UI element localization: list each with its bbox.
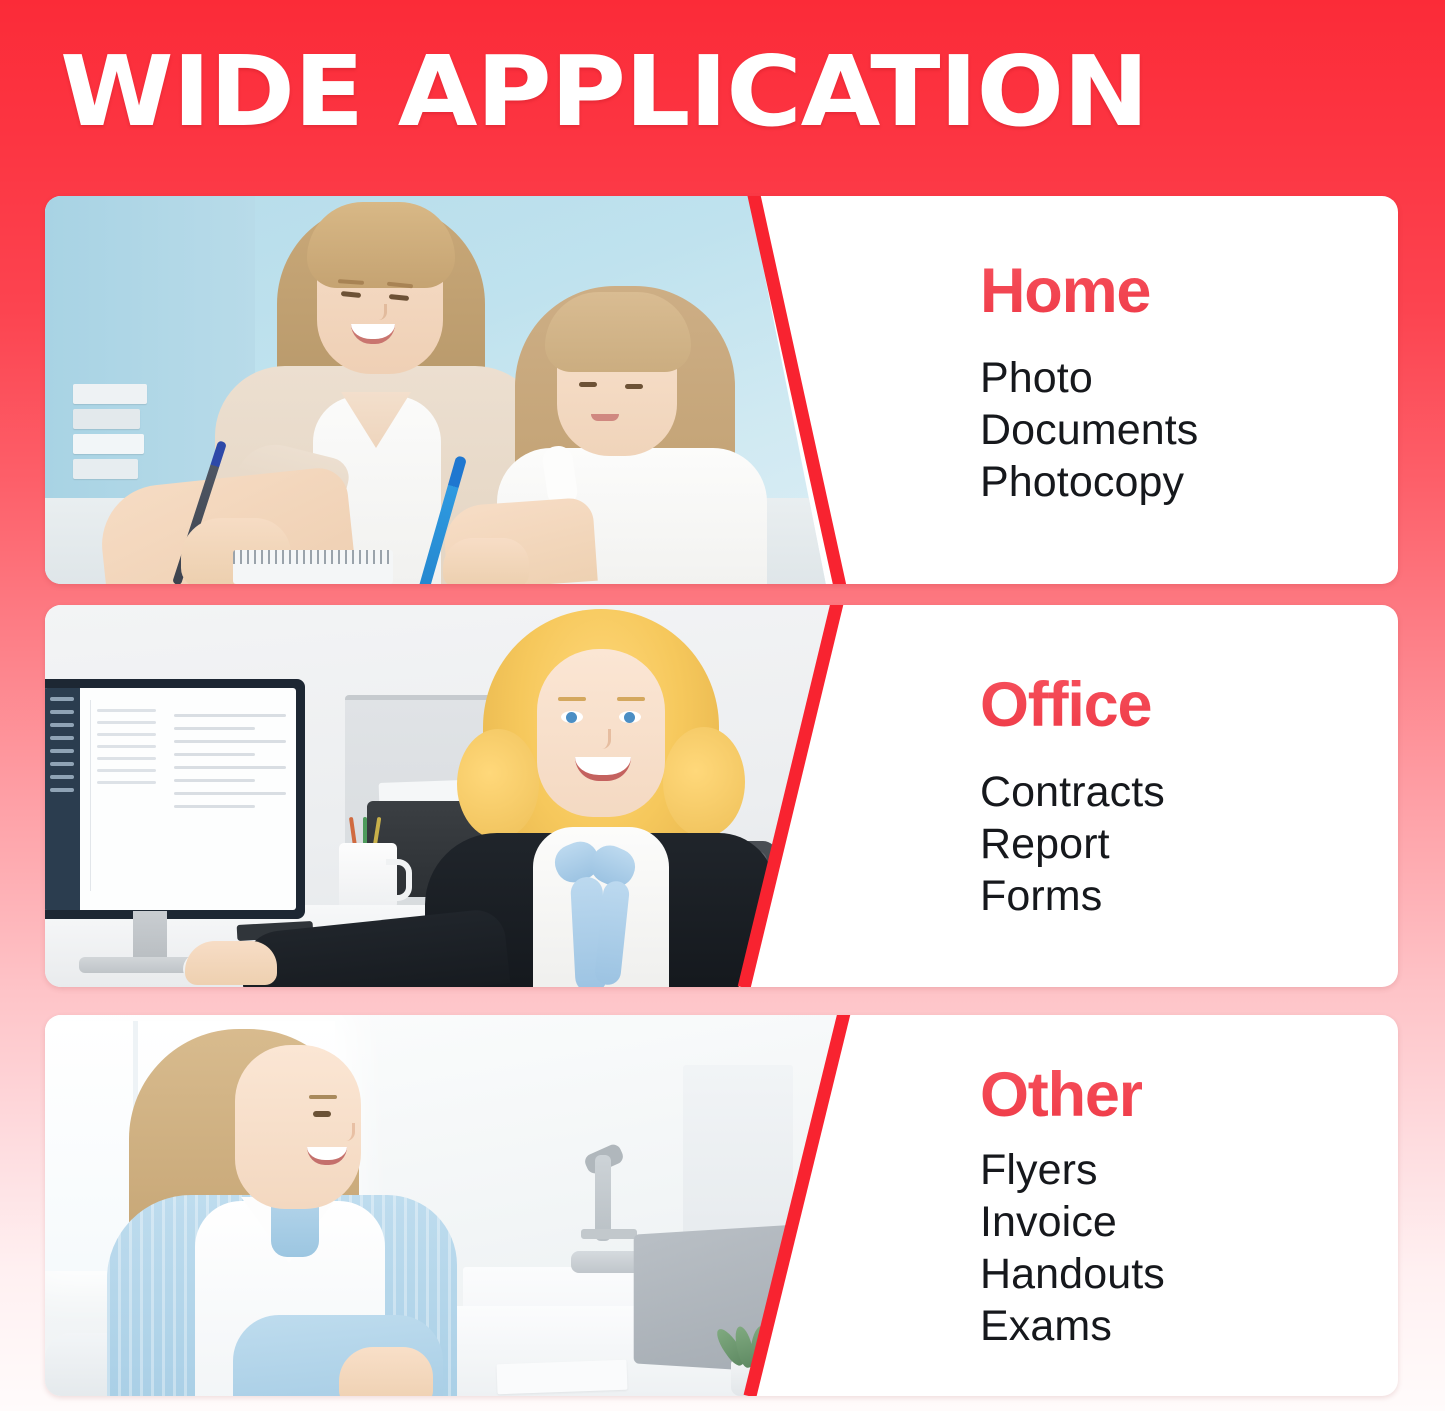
list-item: Handouts bbox=[980, 1248, 1165, 1300]
card-item-list-office: Contracts Report Forms bbox=[980, 766, 1165, 922]
screen-content bbox=[174, 704, 286, 818]
woman-pupil-left bbox=[566, 712, 577, 723]
list-item: Photocopy bbox=[980, 456, 1198, 508]
list-item: Photo bbox=[980, 352, 1198, 404]
girl-mouth bbox=[591, 414, 619, 421]
list-item: Forms bbox=[980, 870, 1165, 922]
woman-pupil-right bbox=[624, 712, 635, 723]
other-text-panel: Other Flyers Invoice Handouts Exams bbox=[858, 1015, 1398, 1396]
application-card-home: Home Photo Documents Photocopy bbox=[45, 196, 1398, 584]
screen-list-column bbox=[90, 700, 162, 891]
papers bbox=[497, 1360, 628, 1395]
list-item: Report bbox=[980, 818, 1165, 870]
woman-eyebrow-right bbox=[617, 697, 645, 701]
list-item: Invoice bbox=[980, 1196, 1165, 1248]
card-heading-other: Other bbox=[980, 1063, 1142, 1127]
woman-eyebrow-left bbox=[558, 697, 586, 701]
lab-cabinet bbox=[683, 1065, 793, 1245]
list-item: Exams bbox=[980, 1300, 1165, 1352]
list-item: Contracts bbox=[980, 766, 1165, 818]
woman-clasped-hands bbox=[339, 1347, 433, 1396]
list-item: Flyers bbox=[980, 1144, 1165, 1196]
woman-hand-on-mouse bbox=[185, 941, 277, 985]
woman-eyebrow bbox=[309, 1095, 337, 1099]
list-item: Documents bbox=[980, 404, 1198, 456]
card-heading-home: Home bbox=[980, 259, 1150, 323]
woman-eye bbox=[313, 1111, 331, 1117]
application-card-other: Other Flyers Invoice Handouts Exams bbox=[45, 1015, 1398, 1396]
card-heading-office: Office bbox=[980, 673, 1151, 737]
woman-hair-top bbox=[307, 202, 455, 288]
girl-eye-right bbox=[625, 384, 643, 389]
notepad bbox=[233, 550, 393, 584]
desktop-monitor bbox=[45, 679, 305, 919]
books-stack bbox=[73, 384, 147, 502]
application-card-office: Office Contracts Report Forms bbox=[45, 605, 1398, 987]
office-photo bbox=[45, 605, 845, 987]
test-tubes bbox=[775, 1292, 829, 1366]
girl-hand bbox=[443, 538, 529, 584]
blue-bow-tie bbox=[537, 843, 653, 987]
home-text-panel: Home Photo Documents Photocopy bbox=[858, 196, 1398, 584]
page-title: WIDE APPLICATION bbox=[60, 38, 1445, 148]
home-photo bbox=[45, 196, 845, 584]
card-item-list-other: Flyers Invoice Handouts Exams bbox=[980, 1144, 1165, 1352]
girl-hair-top bbox=[545, 292, 691, 372]
other-photo bbox=[45, 1015, 845, 1396]
wide-application-poster: WIDE APPLICATION bbox=[0, 0, 1445, 1411]
office-text-panel: Office Contracts Report Forms bbox=[858, 605, 1398, 987]
monitor-stand-neck bbox=[133, 911, 167, 963]
girl-eye-left bbox=[579, 382, 597, 387]
monitor-screen bbox=[45, 688, 296, 910]
screen-sidebar bbox=[45, 688, 80, 910]
card-item-list-home: Photo Documents Photocopy bbox=[980, 352, 1198, 508]
